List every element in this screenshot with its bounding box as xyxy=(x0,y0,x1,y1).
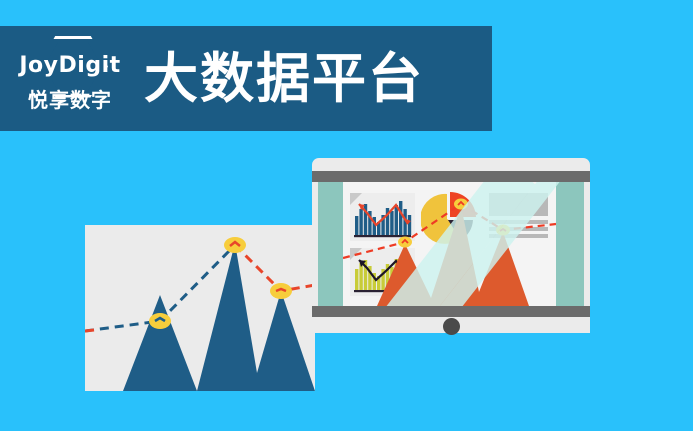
header-banner: JoyDigit 悦享数字 大数据平台 xyxy=(0,26,492,131)
left-area-chart-panel xyxy=(85,225,315,391)
data-marker xyxy=(149,313,171,329)
logo-latin-text: JoyDigit xyxy=(19,55,120,77)
page-title: 大数据平台 xyxy=(144,52,424,106)
poster-canvas: JoyDigit 悦享数字 大数据平台 xyxy=(0,0,693,431)
data-marker xyxy=(224,237,246,253)
logo-chinese-text: 悦享数字 xyxy=(28,90,112,110)
monitor-top-bezel xyxy=(312,171,590,182)
screen-right-strip xyxy=(556,182,584,306)
data-marker xyxy=(270,283,292,299)
trend-line-red xyxy=(235,245,315,291)
data-marker xyxy=(398,237,412,248)
desktop-monitor xyxy=(312,158,590,333)
trend-line-red-stub xyxy=(85,330,94,331)
left-mountain-chart xyxy=(85,225,315,391)
mountain-shape xyxy=(85,243,315,391)
monitor-bottom-bezel xyxy=(312,306,590,317)
monitor-screen xyxy=(318,182,584,306)
screen-left-strip xyxy=(318,182,343,306)
monitor-power-indicator[interactable] xyxy=(443,318,460,335)
brand-logo: JoyDigit 悦享数字 xyxy=(12,34,128,124)
